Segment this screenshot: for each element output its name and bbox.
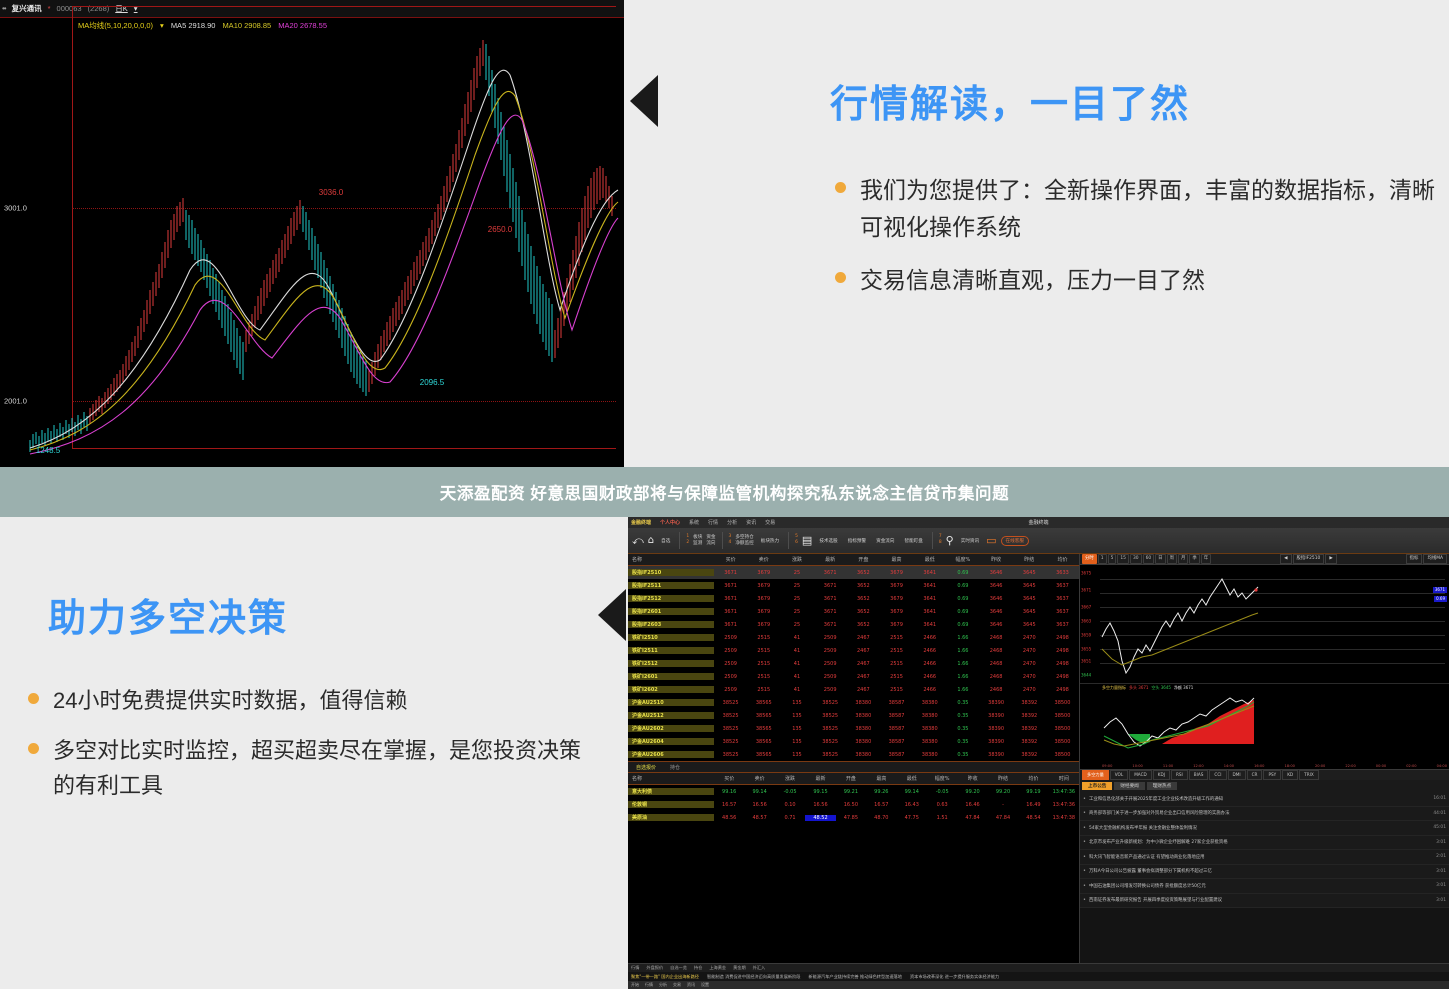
column-header[interactable]: 开盘 (836, 775, 866, 782)
ticker-item[interactable]: 聚焦"一带一路" 国内企业出海新路径 (631, 974, 699, 980)
table-cell: 2466 (913, 674, 946, 680)
table-cell: 38392 (1013, 700, 1046, 706)
instrument-name: 股指IF2603 (628, 621, 714, 628)
table-cell: 135 (780, 739, 813, 745)
instrument-name: 股指IF2601 (628, 608, 714, 615)
table-row[interactable]: 股指IF2601367136792536713652367936410.6936… (628, 605, 1079, 618)
table-row[interactable]: 沪金AU251038525385651353852538380385873838… (628, 696, 1079, 709)
x-axis-tick: 22:00 (1345, 764, 1355, 768)
news-list-item[interactable]: •中国石油集团公司增发可转换公司债券 获批额度总计50亿元3:01 (1080, 879, 1449, 894)
table-cell: 38390 (980, 726, 1013, 732)
news-list-item[interactable]: •商务部等部门关于进一步加强对外贸易企业出口信用风险管理的实施办法44:01 (1080, 807, 1449, 822)
terminal-news-ticker: 聚焦"一带一路" 国内企业出海新路径智能制造 消费促进中国经济迈向高质量发展新阶… (628, 972, 1449, 981)
column-header[interactable]: 名称 (628, 556, 714, 563)
table-cell: 2468 (980, 661, 1013, 667)
alert-icon[interactable]: ⚲ (946, 535, 954, 546)
table-cell: 25 (780, 622, 813, 628)
tab-holdings[interactable]: 持仓 (666, 764, 684, 771)
holdings-header-row: 名称买价卖价涨跌最新开盘最高最低幅度%昨收昨结均价时间 (628, 773, 1079, 785)
table-row[interactable]: 铁矿I2510250925154125092467251524661.66246… (628, 631, 1079, 644)
table-cell: 38565 (747, 713, 780, 719)
statusbar-item[interactable]: 外盘报价 (646, 965, 663, 971)
callout-arrow-icon (598, 589, 626, 641)
table-cell: 38392 (1013, 752, 1046, 758)
toolbar-button-sector-monitor[interactable]: 板块 监测 (693, 535, 702, 546)
indicator-field-label[interactable]: 指标 (1406, 554, 1423, 564)
news-list-item[interactable]: •科大讯飞智能语音新产品通过认证 有望推动商业化落地应用2:01 (1080, 850, 1449, 865)
table-row[interactable]: 铁矿I2512250925154125092467251524661.66246… (628, 657, 1079, 670)
news-date: 3:01 (1436, 898, 1446, 903)
instrument-name: 铁矿I2512 (628, 660, 714, 667)
y-axis-tick: 3644 (1081, 673, 1091, 678)
news-tab-bar: 上市公告财经要闻理财热点 (1080, 780, 1449, 792)
indicator-tab-RSI[interactable]: RSI (1171, 770, 1188, 780)
column-header[interactable]: 最新 (805, 775, 835, 782)
table-cell: 2515 (747, 687, 780, 693)
instrument-name: 股指IF2512 (628, 595, 714, 602)
table-cell: 38587 (880, 739, 913, 745)
table-cell: 3679 (880, 622, 913, 628)
column-header[interactable]: 最高 (880, 556, 913, 563)
column-header[interactable]: 涨跌 (775, 775, 805, 782)
column-header[interactable]: 最高 (866, 775, 896, 782)
period-button-1[interactable]: 1 (1098, 554, 1107, 564)
indicator-tab-PSY[interactable]: PSY (1263, 770, 1281, 780)
instrument-name: 股指IF2511 (628, 582, 714, 589)
toolbar-numbers: 3 4 (729, 535, 732, 546)
table-cell: 3645 (1013, 609, 1046, 615)
instrument-name: 沪金AU2512 (628, 712, 714, 719)
indicator-legend-entry: 多头 3671 (1129, 685, 1148, 691)
table-cell: 38380 (847, 713, 880, 719)
table-cell: 0.10 (775, 802, 805, 808)
indicator-tab-BIAS[interactable]: BIAS (1189, 770, 1209, 780)
table-cell: 2470 (1013, 661, 1046, 667)
toolbar-button-indicator-alert[interactable]: 指标预警 (845, 537, 869, 545)
bullet-dot-icon (835, 272, 846, 283)
ticker-item[interactable]: 智能制造 消费促进中国经济迈向高质量发展新阶段 (707, 974, 800, 980)
long-short-series (1102, 694, 1402, 752)
news-tab-上市公告[interactable]: 上市公告 (1082, 782, 1112, 790)
toolbar-button-fund-flow[interactable]: 资金 流向 (706, 535, 715, 546)
column-header[interactable]: 幅度% (946, 556, 979, 563)
table-cell: 3637 (1046, 596, 1079, 602)
divider (932, 532, 933, 549)
table-row[interactable]: 沪金AU260638525385651353852538380385873838… (628, 748, 1079, 761)
indicator-tab-TRIX[interactable]: TRIX (1299, 770, 1319, 780)
news-date: 3:01 (1436, 869, 1446, 874)
table-row[interactable]: 铁矿I2601250925154125092467251524661.66246… (628, 670, 1079, 683)
terminal-window-title: 金融终端 (628, 519, 1449, 526)
table-row[interactable]: 股指IF2510367136792536713652367936410.6936… (628, 566, 1079, 579)
table-cell: 1.66 (946, 648, 979, 654)
table-cell: 38525 (814, 752, 847, 758)
statusbar-item[interactable]: 上海黄金 (709, 965, 726, 971)
table-cell: 2515 (880, 635, 913, 641)
nav-next-button[interactable]: ▶ (1325, 554, 1336, 564)
period-button-年[interactable]: 年 (1201, 554, 1211, 564)
price-annotation: 2650.0 (488, 225, 512, 234)
taskbar-item[interactable]: 交易 (673, 982, 681, 988)
table-cell: 99.26 (866, 789, 896, 795)
y-axis-tick: 3663 (1081, 619, 1091, 624)
period-button-30[interactable]: 30 (1130, 554, 1142, 564)
table-row[interactable]: 股指IF2603367136792536713652367936410.6936… (628, 618, 1079, 631)
table-cell: 38525 (814, 700, 847, 706)
column-header[interactable]: 均价 (1018, 775, 1048, 782)
price-chart[interactable]: 3675 3671 3667 3663 3659 3655 3651 3644 … (1080, 565, 1449, 683)
toolbar-numbers: 7 8 (939, 535, 942, 546)
table-cell: 38500 (1046, 700, 1079, 706)
table-cell: 3646 (980, 622, 1013, 628)
news-list-item[interactable]: •西南证券发布最新研究报告 开展四季度投资策略展望与行业配置建议3:01 (1080, 894, 1449, 909)
period-button-60[interactable]: 60 (1143, 554, 1155, 564)
indicator-tab-CR[interactable]: CR (1247, 770, 1263, 780)
indicator-legend-entry: 空头 3645 (1151, 685, 1170, 691)
table-cell: 2515 (880, 661, 913, 667)
nav-prev-button[interactable]: ◀ (1280, 554, 1291, 564)
bullet-dot-icon: • (1083, 810, 1086, 816)
top-headline: 行情解读，一目了然 (830, 73, 1190, 128)
home-icon[interactable]: ⌂ (648, 536, 654, 546)
price-annotation: 3036.0 (319, 188, 343, 197)
table-cell: 2498 (1046, 635, 1079, 641)
news-date: 2:01 (1436, 854, 1446, 859)
table-cell: 3679 (747, 609, 780, 615)
column-header[interactable]: 名称 (628, 775, 714, 782)
instrument-name: 沪金AU2602 (628, 725, 714, 732)
table-row[interactable]: 沪金AU260238525385651353852538380385873838… (628, 722, 1079, 735)
table-cell: 3679 (747, 583, 780, 589)
undo-icon[interactable]: ⤺ (632, 535, 644, 546)
table-cell: 16.49 (1018, 802, 1048, 808)
bullet-dot-icon (28, 743, 39, 754)
table-cell: 48.57 (744, 815, 774, 821)
table-cell: 38500 (1046, 752, 1079, 758)
top-section: •• 复兴通讯 * 000063 (2268) 日K ▾ MA均线(5,10,2… (0, 0, 1449, 467)
table-cell: 38525 (814, 739, 847, 745)
table-cell: 38525 (814, 726, 847, 732)
news-title[interactable]: 万科A今日公司公告披露 董事会拟调整部分下属机构不超过三亿 (1089, 868, 1433, 874)
table-cell: 2515 (747, 648, 780, 654)
table-cell: 3645 (1013, 596, 1046, 602)
instrument-name: 沪金AU2606 (628, 751, 714, 758)
table-cell: 25 (780, 596, 813, 602)
quote-subtabs: 自选报价 持仓 (628, 761, 1079, 773)
table-cell: 3652 (847, 596, 880, 602)
taskbar-item[interactable]: 开始 (631, 982, 639, 988)
column-header[interactable]: 开盘 (847, 556, 880, 563)
column-header[interactable]: 卖价 (744, 775, 774, 782)
table-cell: -0.05 (775, 789, 805, 795)
period-button-15[interactable]: 15 (1117, 554, 1129, 564)
table-cell: 25 (780, 570, 813, 576)
table-cell: 1.66 (946, 635, 979, 641)
indicator-field-value[interactable]: 均线MA (1423, 554, 1447, 564)
table-cell: 2509 (714, 661, 747, 667)
table-cell: 13:47:38 (1049, 815, 1079, 821)
price-annotation: 1248.5 (36, 446, 60, 455)
chat-icon[interactable]: ▭ (986, 535, 996, 546)
table-cell: 3671 (814, 609, 847, 615)
table-cell: 3641 (913, 583, 946, 589)
table-cell: 135 (780, 752, 813, 758)
bottom-headline: 助力多空决策 (48, 587, 288, 642)
table-cell: 2509 (814, 687, 847, 693)
table-cell: 38392 (1013, 726, 1046, 732)
toolbar-button-tech-screen[interactable]: 技术选股 (816, 537, 840, 545)
period-button-月[interactable]: 月 (1178, 554, 1188, 564)
column-header[interactable]: 均价 (1046, 556, 1079, 563)
table-cell: 47.84 (957, 815, 987, 821)
table-row[interactable]: 意大利债99.1699.14-0.0599.1599.2199.2699.14-… (628, 785, 1079, 798)
news-date: 3:01 (1436, 840, 1446, 845)
table-cell: 2509 (814, 674, 847, 680)
indicator-tab-KD[interactable]: KD (1282, 770, 1298, 780)
table-cell: 3646 (980, 596, 1013, 602)
statusbar-item[interactable]: 外汇入 (753, 965, 766, 971)
indicator-tab-KDJ[interactable]: KDJ (1153, 770, 1170, 780)
table-cell: 2509 (714, 674, 747, 680)
news-title[interactable]: 54家大型金融机构发布半年报 关注金融业整体盈利情况 (1089, 825, 1430, 831)
toolbar-label: 监测 (693, 541, 702, 546)
slide-page: •• 复兴通讯 * 000063 (2268) 日K ▾ MA均线(5,10,2… (0, 0, 1449, 989)
news-list-item[interactable]: •54家大型金融机构发布半年报 关注金融业整体盈利情况45:01 (1080, 821, 1449, 836)
table-cell: 3671 (714, 596, 747, 602)
top-bullet-text: 交易信息清晰直观，压力一目了然 (860, 262, 1205, 299)
table-cell: 48.54 (1018, 815, 1048, 821)
toolbar-button-realtime-news[interactable]: 实时资讯 (958, 537, 982, 545)
period-button-周[interactable]: 周 (1167, 554, 1177, 564)
news-list-item[interactable]: •万科A今日公司公告披露 董事会拟调整部分下属机构不超过三亿3:01 (1080, 865, 1449, 880)
column-header[interactable]: 卖价 (747, 556, 780, 563)
list-item: 24小时免费提供实时数据，值得信赖 (28, 683, 598, 718)
ma5-line (30, 70, 618, 448)
divider (788, 532, 789, 549)
table-cell: 16.46 (957, 802, 987, 808)
column-header[interactable]: 昨收 (980, 556, 1013, 563)
news-list: •工业和信息化部关于开展2025年度工业企业技术改造升级工作的通知16:01•商… (1080, 792, 1449, 908)
table-cell: 0.69 (946, 583, 979, 589)
table-cell: 2509 (814, 648, 847, 654)
toolbar-button-heatmap[interactable]: 板块热力 (758, 537, 782, 545)
table-cell: 2470 (1013, 674, 1046, 680)
indicator-tab-MACD[interactable]: MACD (1129, 770, 1152, 780)
table-cell: 0.35 (946, 726, 979, 732)
table-cell: 0.35 (946, 713, 979, 719)
table-cell: 38500 (1046, 726, 1079, 732)
table-cell: 2498 (1046, 674, 1079, 680)
x-axis-tick: 00:00 (1376, 764, 1386, 768)
toolbar-button-smart-watch[interactable]: 智能盯盘 (901, 537, 925, 545)
table-cell: 99.21 (836, 789, 866, 795)
x-axis-tick: 12:00 (1193, 764, 1203, 768)
table-cell: 3679 (747, 570, 780, 576)
table-cell: 3671 (714, 583, 747, 589)
column-header[interactable]: 昨收 (957, 775, 987, 782)
terminal-titlebar: 金融终端 个人中心 系统 行情 分析 资讯 交易 金融终端 (628, 517, 1449, 528)
column-header[interactable]: 昨结 (1013, 556, 1046, 563)
table-cell: 3637 (1046, 609, 1079, 615)
bottom-bullet-text: 24小时免费提供实时数据，值得信赖 (53, 683, 407, 718)
statusbar-item[interactable]: 自选一览 (670, 965, 687, 971)
x-axis-tick: 16:00 (1254, 764, 1264, 768)
statusbar-item[interactable]: 黄金期 (733, 965, 746, 971)
toolbar-button-long-short-position[interactable]: 多空持仓 净额监控 (735, 535, 753, 546)
bullet-dot-icon: • (1083, 839, 1086, 845)
page-title: 天添盈配资 好意思国财政部将与保障监管机构探究私东说念主信贷市集问题 (440, 480, 1009, 504)
instrument-name: 铁矿I2510 (628, 634, 714, 641)
column-header[interactable]: 幅度% (927, 775, 957, 782)
table-cell: 3637 (1046, 622, 1079, 628)
news-title[interactable]: 商务部等部门关于进一步加强对外贸易企业出口信用风险管理的实施办法 (1089, 810, 1430, 816)
y-axis-tick: 3667 (1081, 605, 1091, 610)
taskbar-item[interactable]: 分析 (659, 982, 667, 988)
ticker-item[interactable]: 资本市场改革深化 进一步提升服务实体经济能力 (910, 974, 999, 980)
table-row[interactable]: 股指IF2512367136792536713652367936410.6936… (628, 592, 1079, 605)
list-item: 我们为您提供了：全新操作界面，丰富的数据指标，清晰可视化操作系统 (835, 172, 1435, 246)
table-cell: 0.69 (946, 570, 979, 576)
column-header[interactable]: 时间 (1049, 775, 1079, 782)
table-cell: 38525 (714, 700, 747, 706)
table-cell: 38380 (847, 726, 880, 732)
table-cell: 3646 (980, 609, 1013, 615)
taskbar-item[interactable]: 资讯 (687, 982, 695, 988)
table-cell: 16.56 (805, 802, 835, 808)
table-row[interactable]: 沪金AU251238525385651353852538380385873838… (628, 709, 1079, 722)
indicator-tab-DMI[interactable]: DMI (1228, 770, 1246, 780)
column-header[interactable]: 买价 (714, 556, 747, 563)
ticker-item[interactable]: 新能源汽车产业链持续完善 推动绿色转型加速落地 (808, 974, 901, 980)
taskbar-item[interactable]: 行情 (645, 982, 653, 988)
period-button-日[interactable]: 日 (1155, 554, 1165, 564)
news-list-item[interactable]: •工业和信息化部关于开展2025年度工业企业技术改造升级工作的通知16:01 (1080, 792, 1449, 807)
column-header[interactable]: 买价 (714, 775, 744, 782)
table-cell: 16.50 (836, 802, 866, 808)
news-title[interactable]: 中国石油集团公司增发可转换公司债券 获批额度总计50亿元 (1089, 883, 1433, 889)
indicator-legend: 多空力量指标多头 3671空头 3645净额 3671 (1102, 685, 1193, 691)
indicator-legend-entry: 多空力量指标 (1102, 685, 1126, 691)
indicator-legend-entry: 净额 3671 (1174, 685, 1193, 691)
statusbar-item[interactable]: 行情 (631, 965, 639, 971)
table-cell: 3671 (714, 570, 747, 576)
table-cell: 48.52 (805, 815, 835, 821)
table-cell: 38390 (980, 700, 1013, 706)
price-line-series (1100, 565, 1400, 683)
table-cell: 2466 (913, 635, 946, 641)
period-button-分时[interactable]: 分时 (1082, 554, 1097, 564)
news-title[interactable]: 北京市发布产业升级新规划：为中小微企业纾困解难 27家企业获批资格 (1089, 839, 1433, 845)
table-cell: 38380 (913, 726, 946, 732)
table-cell: 2515 (880, 687, 913, 693)
table-cell: 2515 (747, 674, 780, 680)
statusbar-item[interactable]: 持仓 (694, 965, 702, 971)
period-button-季[interactable]: 季 (1189, 554, 1199, 564)
news-title[interactable]: 工业和信息化部关于开展2025年度工业企业技术改造升级工作的通知 (1089, 796, 1430, 802)
news-title[interactable]: 西南证券发布最新研究报告 开展四季度投资策略展望与行业配置建议 (1089, 897, 1433, 903)
table-cell: 3679 (880, 583, 913, 589)
table-row[interactable]: 股指IF2511367136792536713652367936410.6936… (628, 579, 1079, 592)
period-button-5[interactable]: 5 (1108, 554, 1117, 564)
column-header[interactable]: 最新 (814, 556, 847, 563)
table-cell: 16.43 (897, 802, 927, 808)
y-axis-tick: 3655 (1081, 647, 1091, 652)
table-cell: 1.66 (946, 661, 979, 667)
table-cell: 38380 (913, 739, 946, 745)
table-cell: 0.69 (946, 596, 979, 602)
news-list-item[interactable]: •北京市发布产业升级新规划：为中小微企业纾困解难 27家企业获批资格3:01 (1080, 836, 1449, 851)
news-title[interactable]: 科大讯飞智能语音新产品通过认证 有望推动商业化落地应用 (1089, 854, 1433, 860)
table-row[interactable]: 铁矿I2511250925154125092467251524661.66246… (628, 644, 1079, 657)
toolbar-button-watchlist[interactable]: 自选 (658, 537, 673, 545)
tab-watchlist-quotes[interactable]: 自选报价 (632, 764, 660, 771)
table-cell: 38500 (1046, 713, 1079, 719)
column-header[interactable]: 最低 (897, 775, 927, 782)
callout-arrow-icon (630, 75, 658, 127)
table-cell: 0.69 (946, 622, 979, 628)
terminal-chart-column: 分时15153060日周月季年◀股指IF2510▶指标均线MA 3675 367… (1080, 554, 1449, 963)
toolbar-button-online-service[interactable]: 在线客服 (1001, 536, 1029, 546)
taskbar-item[interactable]: 设置 (701, 982, 709, 988)
quote-table[interactable]: 名称买价卖价涨跌最新开盘最高最低幅度%昨收昨结均价 股指IF2510367136… (628, 554, 1080, 963)
terminal-taskbar: 开始行情分析交易资讯设置 (628, 981, 1449, 989)
indicator-tab-bar: 多空力量VOLMACDKDJRSIBIASCCIDMICRPSYKDTRIX (1080, 769, 1449, 780)
news-tab-财经要闻[interactable]: 财经要闻 (1114, 782, 1144, 790)
table-cell: 99.15 (805, 789, 835, 795)
table-row[interactable]: 铁矿I2602250925154125092467251524661.66246… (628, 683, 1079, 696)
table-cell: 3671 (714, 622, 747, 628)
table-cell: 0.35 (946, 752, 979, 758)
table-cell: 2498 (1046, 661, 1079, 667)
table-row[interactable]: 沪金AU260438525385651353852538380385873838… (628, 735, 1079, 748)
terminal-statusbar: 行情外盘报价自选一览持仓上海黄金黄金期外汇入 (628, 963, 1449, 972)
table-cell: 3671 (814, 622, 847, 628)
table-cell: 3671 (814, 583, 847, 589)
table-cell: 2467 (847, 635, 880, 641)
indicator-tab-多空力量[interactable]: 多空力量 (1082, 770, 1109, 780)
table-cell: 99.14 (744, 789, 774, 795)
x-axis-tick: 14:00 (1224, 764, 1234, 768)
table-cell: 38500 (1046, 739, 1079, 745)
toolbar-button-fund-direction[interactable]: 资金流向 (873, 537, 897, 545)
table-cell: 25 (780, 583, 813, 589)
table-cell: 3641 (913, 622, 946, 628)
table-cell: 38565 (747, 752, 780, 758)
table-cell: 2468 (980, 674, 1013, 680)
table-cell: 3645 (1013, 583, 1046, 589)
indicator-chart[interactable]: 多空力量指标多头 3671空头 3645净额 3671 09:0010:0011… (1080, 683, 1449, 769)
table-cell: 99.16 (714, 789, 744, 795)
chart-symbol-title[interactable]: 股指IF2510 (1293, 554, 1325, 564)
column-header[interactable]: 最低 (913, 556, 946, 563)
news-tab-理财热点[interactable]: 理财热点 (1147, 782, 1177, 790)
top-text-block: 行情解读，一目了然 我们为您提供了：全新操作界面，丰富的数据指标，清晰可视化操作… (630, 0, 1449, 467)
table-row[interactable]: 美原油48.5648.570.7148.5247.8548.7047.751.5… (628, 811, 1079, 824)
table-cell: 3641 (913, 570, 946, 576)
table-row[interactable]: 伦敦铜16.5716.560.1016.5616.5016.5716.430.6… (628, 798, 1079, 811)
table-cell: 3679 (747, 596, 780, 602)
table-cell: 41 (780, 687, 813, 693)
indicator-tab-VOL[interactable]: VOL (1110, 770, 1128, 780)
chart-icon[interactable]: ▤ (802, 535, 812, 546)
toolbar-number: 8 (939, 541, 942, 546)
x-axis-tick: 09:00 (1102, 764, 1112, 768)
indicator-tab-CCI[interactable]: CCI (1209, 770, 1226, 780)
column-header[interactable]: 涨跌 (780, 556, 813, 563)
table-cell: 38525 (714, 713, 747, 719)
table-cell: 2515 (880, 674, 913, 680)
column-header[interactable]: 昨结 (988, 775, 1018, 782)
